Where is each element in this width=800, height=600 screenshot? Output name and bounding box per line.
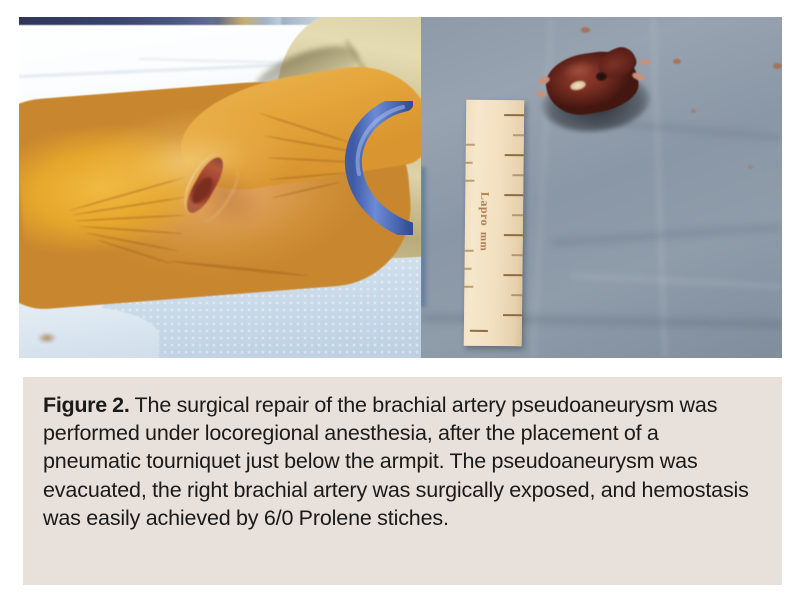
ruler-tick (504, 234, 523, 236)
ruler-tick (505, 154, 524, 156)
drape-edge (421, 167, 428, 307)
drape-fleck (673, 59, 681, 64)
drape-fleck (748, 165, 753, 169)
ruler-tick (464, 286, 473, 288)
ruler-tick (466, 144, 475, 146)
figure-caption: Figure 2. The surgical repair of the bra… (43, 391, 760, 532)
ruler-tick (504, 194, 523, 196)
ruler-tick (465, 180, 474, 182)
surgical-field-photo (19, 17, 421, 358)
ruler-tick (512, 254, 523, 256)
ruler-tick (513, 134, 524, 136)
figure-caption-text: The surgical repair of the brachial arte… (43, 393, 749, 530)
figure-container: Lapro mm Figure 2. (0, 0, 800, 600)
ruler-tick (512, 174, 523, 176)
ruler-tick (503, 314, 522, 316)
ruler-tick (504, 114, 524, 116)
ruler-tick (470, 330, 488, 332)
ruler-tick (466, 162, 473, 164)
measuring-ruler: Lapro mm (464, 100, 525, 347)
ruler-unit-text: mm (478, 232, 490, 251)
specimen-tissue-tag (640, 58, 651, 65)
specimen-dark-opening (596, 72, 607, 81)
specimen-photo: Lapro mm (421, 17, 782, 358)
drape-fleck (691, 109, 696, 113)
ruler-tick (465, 268, 472, 270)
drape-fleck (773, 63, 782, 69)
drape-stain (37, 332, 57, 344)
ruler-brand-text: Lapro (477, 192, 492, 226)
drape-fleck (581, 27, 590, 33)
figure-image-strip: Lapro mm (19, 17, 782, 358)
ruler-tick (511, 294, 522, 296)
figure-caption-box: Figure 2. The surgical repair of the bra… (23, 377, 782, 585)
pneumatic-tourniquet-tube (339, 101, 413, 235)
ruler-tick (503, 274, 522, 276)
excised-pseudoaneurysm-specimen (536, 47, 658, 135)
figure-label: Figure 2. (43, 393, 130, 417)
ruler-tick (465, 250, 474, 252)
ruler-tick (512, 214, 523, 216)
